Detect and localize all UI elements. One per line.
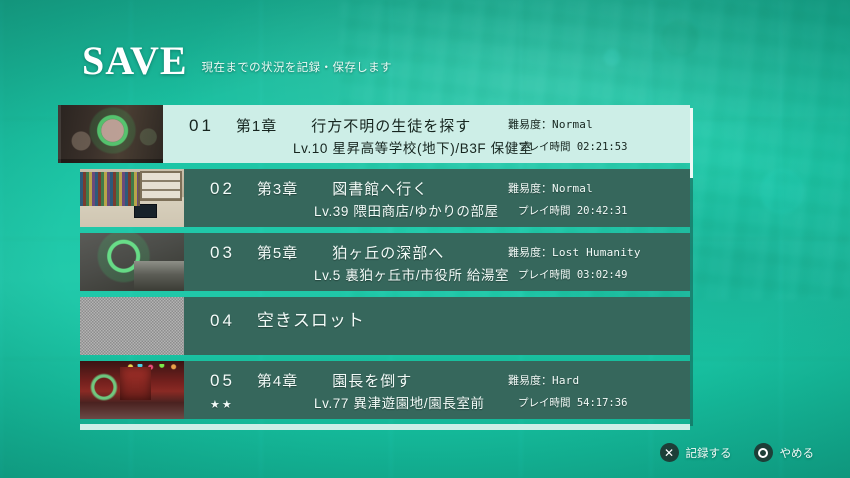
save-slot-quest: 図書館へ行く [332, 178, 428, 199]
save-slot-number: 04 [210, 311, 235, 331]
cancel-hint[interactable]: やめる [754, 443, 815, 462]
save-slot-thumbnail [80, 233, 184, 291]
page-subtitle: 現在までの状況を記録・保存します [202, 59, 392, 75]
save-slot-body: 04空きスロット [184, 297, 690, 355]
save-slot-chapter: 第4章 [257, 370, 298, 391]
save-slot-level-location: Lv.10 星昇高等学校(地下)/B3F 保健室 [293, 137, 533, 157]
save-slot-empty-label: 空きスロット [257, 306, 365, 331]
save-slot-thumbnail [80, 361, 184, 419]
save-slot-row[interactable]: 04空きスロット [80, 297, 690, 355]
save-slot-thumbnail [80, 297, 184, 355]
circle-button-icon [754, 443, 773, 462]
save-slot-thumbnail [58, 105, 163, 163]
save-slot-chapter: 第1章 [236, 115, 277, 136]
save-slot-level-location: Lv.77 異津遊園地/園長室前 [314, 392, 485, 412]
save-slot-difficulty: 難易度：Lost Humanity [508, 244, 641, 260]
save-slot-row[interactable]: 01第1章行方不明の生徒を探すLv.10 星昇高等学校(地下)/B3F 保健室難… [58, 105, 690, 163]
page-header: SAVE 現在までの状況を記録・保存します [82, 44, 392, 78]
red-corridor-with-lights-icon [80, 361, 184, 419]
save-slot-stars: ★★ [210, 398, 256, 411]
save-slot-body: 05第4章園長を倒す★★Lv.77 異津遊園地/園長室前難易度：Hardプレイ時… [184, 361, 690, 419]
save-slot-row[interactable]: 02第3章図書館へ行くLv.39 隈田商店/ゆかりの部屋難易度：Normalプレ… [80, 169, 690, 227]
save-slot-chapter: 第3章 [257, 178, 298, 199]
save-slot-number: 02 [210, 179, 235, 199]
save-slot-thumbnail [80, 169, 184, 227]
save-slot-difficulty: 難易度：Normal [508, 116, 593, 132]
button-hint-bar: ✕ 記録する やめる [660, 443, 815, 462]
save-slot-row[interactable]: 05第4章園長を倒す★★Lv.77 異津遊園地/園長室前難易度：Hardプレイ時… [80, 361, 690, 419]
page-title: SAVE [82, 44, 188, 78]
save-slot-level-location: Lv.5 裏狛ヶ丘市/市役所 給湯室 [314, 264, 509, 284]
static-noise-placeholder-icon [80, 297, 184, 355]
save-slot-number: 05 [210, 371, 235, 391]
save-slot-list: 01第1章行方不明の生徒を探すLv.10 星昇高等学校(地下)/B3F 保健室難… [58, 105, 690, 430]
save-slot-chapter: 第5章 [257, 242, 298, 263]
save-slot-body: 01第1章行方不明の生徒を探すLv.10 星昇高等学校(地下)/B3F 保健室難… [163, 105, 690, 163]
save-slot-playtime: プレイ時間 20:42:31 [518, 203, 627, 218]
save-slot-difficulty: 難易度：Hard [508, 372, 579, 388]
basement-with-green-portal-icon [58, 105, 163, 163]
confirm-hint[interactable]: ✕ 記録する [660, 443, 732, 462]
save-slot-level-location: Lv.39 隈田商店/ゆかりの部屋 [314, 200, 499, 220]
save-slot-quest: 園長を倒す [332, 370, 412, 391]
save-slot-number: 01 [189, 116, 214, 136]
cross-button-icon: ✕ [660, 443, 679, 462]
list-scrollbar[interactable] [690, 108, 693, 426]
save-slot-playtime: プレイ時間 02:21:53 [518, 139, 627, 154]
save-slot-playtime: プレイ時間 03:02:49 [518, 267, 627, 282]
save-slot-body: 02第3章図書館へ行くLv.39 隈田商店/ゆかりの部屋難易度：Normalプレ… [184, 169, 690, 227]
save-slot-quest: 狛ヶ丘の深部へ [332, 242, 444, 263]
save-slot-playtime: プレイ時間 54:17:36 [518, 395, 627, 410]
next-row-peek [80, 424, 690, 430]
save-slot-quest: 行方不明の生徒を探す [311, 115, 471, 136]
save-slot-body: 03第5章狛ヶ丘の深部へLv.5 裏狛ヶ丘市/市役所 給湯室難易度：Lost H… [184, 233, 690, 291]
save-slot-row[interactable]: 03第5章狛ヶ丘の深部へLv.5 裏狛ヶ丘市/市役所 給湯室難易度：Lost H… [80, 233, 690, 291]
cancel-label: やめる [780, 445, 815, 461]
confirm-label: 記録する [686, 445, 732, 461]
save-slot-number: 03 [210, 243, 235, 263]
save-slot-difficulty: 難易度：Normal [508, 180, 593, 196]
library-room-with-bookshelves-icon [80, 169, 184, 227]
list-scrollbar-thumb[interactable] [690, 108, 693, 178]
office-pantry-with-green-portal-icon [80, 233, 184, 291]
